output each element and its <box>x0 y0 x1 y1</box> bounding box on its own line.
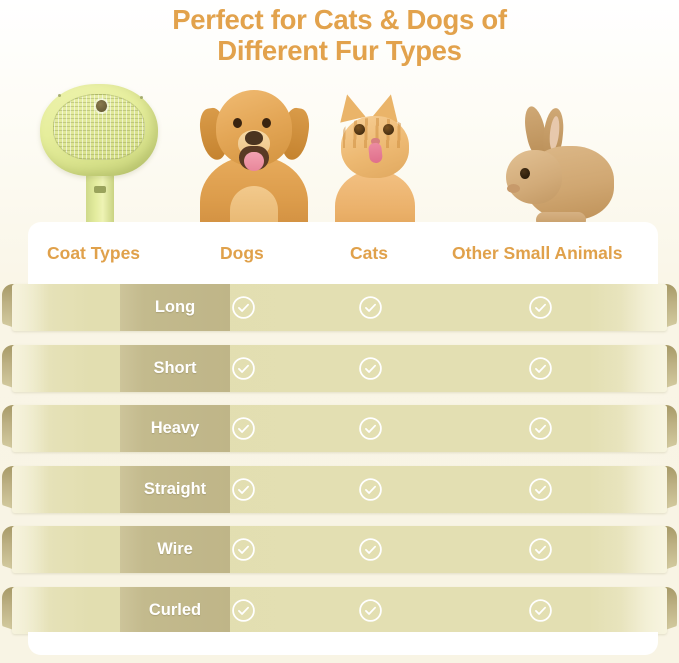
check-circle-icon-dogs <box>219 466 267 513</box>
ribbon-band <box>12 284 667 331</box>
check-circle-icon-other <box>516 345 564 392</box>
rabbit-eye <box>520 168 530 179</box>
check-circle-icon-other <box>516 284 564 331</box>
row-label-text: Straight <box>144 480 206 499</box>
check-circle-icon-other <box>516 587 564 634</box>
row-label-text: Curled <box>149 601 201 620</box>
ribbon-band <box>12 345 667 392</box>
brush-screw <box>58 94 61 97</box>
cat-eye-right <box>383 124 394 135</box>
table-row: Long <box>0 284 679 331</box>
title-line-2: Different Fur Types <box>0 35 679 66</box>
ribbon-band <box>12 526 667 573</box>
row-label-heavy: Heavy <box>120 405 230 452</box>
ribbon-band <box>12 587 667 634</box>
dog-eye-left <box>233 118 242 128</box>
rabbit-photo <box>500 108 620 234</box>
rabbit-nose <box>507 184 520 193</box>
row-label-text: Heavy <box>151 419 200 438</box>
cat-photo <box>327 96 423 236</box>
column-header-cats: Cats <box>350 222 388 284</box>
check-circle-icon-dogs <box>219 526 267 573</box>
check-circle-icon-cats <box>346 284 394 331</box>
page-title: Perfect for Cats & Dogs of Different Fur… <box>0 4 679 66</box>
check-circle-icon-other <box>516 466 564 513</box>
title-line-1: Perfect for Cats & Dogs of <box>0 4 679 35</box>
check-circle-icon-cats <box>346 345 394 392</box>
table-bottom-cap <box>28 632 658 655</box>
check-circle-icon-cats <box>346 466 394 513</box>
hero-image-strip <box>0 68 679 233</box>
ribbon-band <box>12 466 667 513</box>
check-circle-icon-cats <box>346 526 394 573</box>
check-circle-icon-other <box>516 405 564 452</box>
rabbit-head <box>506 150 562 204</box>
comparison-table-body: Long Short Heavy Straight Wire Curled <box>0 284 679 640</box>
column-header-other: Other Small Animals <box>452 222 623 284</box>
table-header: Coat Types Dogs Cats Other Small Animals <box>28 222 658 284</box>
brush-screw <box>140 96 143 99</box>
row-label-text: Long <box>155 298 195 317</box>
infographic-root: Perfect for Cats & Dogs of Different Fur… <box>0 0 679 663</box>
check-circle-icon-cats <box>346 587 394 634</box>
check-circle-icon-dogs <box>219 405 267 452</box>
check-circle-icon-dogs <box>219 345 267 392</box>
check-circle-icon-cats <box>346 405 394 452</box>
cat-tongue <box>368 142 383 163</box>
brush-button <box>94 186 106 193</box>
row-label-text: Short <box>153 359 196 378</box>
column-header-coat-types: Coat Types <box>47 222 140 284</box>
row-label-wire: Wire <box>120 526 230 573</box>
dog-tongue <box>244 152 264 171</box>
row-label-curled: Curled <box>120 587 230 634</box>
check-circle-icon-other <box>516 526 564 573</box>
ribbon-band <box>12 405 667 452</box>
cat-eye-left <box>354 124 365 135</box>
table-row: Straight <box>0 466 679 513</box>
table-row: Wire <box>0 526 679 573</box>
row-label-long: Long <box>120 284 230 331</box>
grooming-brush-icon <box>36 82 161 232</box>
row-label-straight: Straight <box>120 466 230 513</box>
dog-eye-right <box>262 118 271 128</box>
check-circle-icon-dogs <box>219 284 267 331</box>
table-row: Heavy <box>0 405 679 452</box>
row-label-short: Short <box>120 345 230 392</box>
dog-nose <box>245 131 263 145</box>
brush-head <box>40 84 158 176</box>
table-row: Curled <box>0 587 679 634</box>
dog-photo <box>196 82 312 234</box>
row-label-text: Wire <box>157 540 193 559</box>
column-header-dogs: Dogs <box>220 222 264 284</box>
check-circle-icon-dogs <box>219 587 267 634</box>
brush-hole <box>96 100 107 112</box>
table-row: Short <box>0 345 679 392</box>
